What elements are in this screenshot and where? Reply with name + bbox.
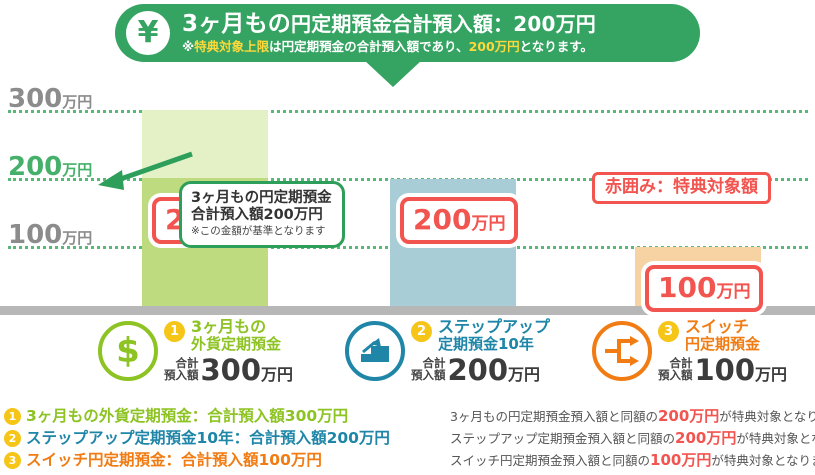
- banner-sub-middle: は円定期預金の合計預入額であり、: [269, 39, 468, 54]
- y-axis-label-100: 100万円: [8, 222, 92, 248]
- product-3-name: スイッチ 円定期預金: [685, 318, 760, 353]
- callout-bubble: 3ヶ月もの円定期預金 合計預入額200万円 ※この金額が基準となります: [179, 181, 345, 248]
- footnote-3-right-amount: 100万円: [650, 451, 711, 469]
- product-2-name-line1: ステップアップ: [438, 318, 550, 336]
- y-axis-100-number: 100: [8, 220, 62, 250]
- product-2-info: 2 ステップアップ 定期預金10年 合計 預入額 200万円: [411, 318, 550, 385]
- product-1-name-line1: 3ヶ月もの: [191, 318, 281, 336]
- footnote-1-right-pre: 3ヶ月もの円定期預金預入額と同額の: [450, 409, 658, 424]
- gridline-300: [8, 110, 808, 113]
- product-1-info: 1 3ヶ月もの 外貨定期預金 合計 預入額 300万円: [164, 318, 293, 385]
- y-axis-label-200: 200万円: [8, 154, 92, 180]
- callout-line-2: 合計預入額200万円: [191, 207, 334, 224]
- footnote-3-left-text: スイッチ円定期預金：合計預入額100万円: [26, 453, 438, 469]
- product-2-name-line2: 定期預金10年: [438, 336, 550, 353]
- product-2-amount-number: 200: [448, 353, 509, 387]
- product-3-amount-unit: 万円: [755, 365, 787, 384]
- badge-2-unit: 万円: [471, 214, 505, 234]
- footnote-list: 1 3ヶ月もの外貨定期預金：合計預入額300万円 3ヶ月もの円定期預金預入額と同…: [0, 406, 815, 472]
- product-item-1[interactable]: $ 1 3ヶ月もの 外貨定期預金 合計 預入額 300万円: [98, 318, 293, 385]
- product-3-amount-label-2: 預入額: [658, 368, 693, 382]
- bar-product-1-upper-segment: [142, 110, 268, 178]
- product-3-amount-number: 100: [695, 353, 756, 387]
- footnote-3-number-badge: 3: [4, 452, 21, 469]
- banner-title-rest: 円定期預金合計預入額：200万円: [291, 12, 596, 36]
- product-1-name-line2: 外貨定期預金: [191, 336, 281, 353]
- callout-line-1: 3ヶ月もの円定期預金: [191, 190, 334, 207]
- footnote-1-right-amount: 200万円: [658, 407, 719, 425]
- y-axis-300-unit: 万円: [62, 93, 92, 111]
- footnote-row-3: 3 スイッチ円定期預金：合計預入額100万円 スイッチ円定期預金預入額と同額の1…: [4, 450, 811, 471]
- product-2-amount: 合計 預入額 200万円: [411, 356, 550, 385]
- banner-title: 3ヶ月もの円定期預金合計預入額：200万円: [182, 12, 596, 37]
- bar-chart: 300万円 200万円 100万円 200万円 200万円 100万円 3ヶ月も…: [0, 84, 815, 316]
- banner-sub-highlight-1: 特典対象上限: [194, 39, 269, 54]
- step-up-chart-icon: [345, 321, 405, 381]
- product-1-amount-number: 300: [201, 353, 262, 387]
- product-3-name-line1: スイッチ: [685, 318, 760, 336]
- eligible-amount-badge-3: 100万円: [645, 265, 763, 312]
- y-axis-300-number: 300: [8, 84, 62, 114]
- product-3-amount-value: 100万円: [695, 356, 788, 385]
- switch-glyph: [603, 335, 641, 367]
- dollar-circle-icon: $: [98, 321, 158, 381]
- footnote-2-right-post: が特典対象となります。: [736, 431, 815, 446]
- product-row: $ 1 3ヶ月もの 外貨定期預金 合計 預入額 300万円: [0, 318, 815, 400]
- footnote-2-right-amount: 200万円: [675, 429, 736, 447]
- product-3-amount-label: 合計 預入額: [658, 357, 693, 382]
- dollar-glyph: $: [111, 332, 145, 370]
- product-2-amount-value: 200万円: [448, 356, 541, 385]
- product-1-head: 1 3ヶ月もの 外貨定期預金: [164, 318, 293, 353]
- product-1-amount-value: 300万円: [201, 356, 294, 385]
- product-3-amount: 合計 預入額 100万円: [658, 356, 787, 385]
- footnote-2-right-text: ステップアップ定期預金預入額と同額の200万円が特典対象となります。: [450, 431, 815, 446]
- infographic-root: ¥ 3ヶ月もの円定期預金合計預入額：200万円 ※特典対象上限は円定期預金の合計…: [0, 0, 815, 475]
- product-2-amount-unit: 万円: [508, 365, 540, 384]
- footnote-1-number-badge: 1: [4, 408, 21, 425]
- switch-arrows-icon: [592, 321, 652, 381]
- y-axis-200-unit: 万円: [62, 161, 92, 179]
- legend-red-box: 赤囲み：特典対象額: [592, 172, 771, 204]
- product-1-number-badge: 1: [164, 321, 185, 342]
- product-2-amount-label-2: 預入額: [411, 368, 446, 382]
- y-axis-200-number: 200: [8, 152, 62, 182]
- footnote-3-right-pre: スイッチ円定期預金預入額と同額の: [450, 453, 650, 468]
- y-axis-label-300: 300万円: [8, 86, 92, 112]
- product-1-amount-label: 合計 預入額: [164, 357, 199, 382]
- footnote-2-number-badge: 2: [4, 430, 21, 447]
- footnote-1-left-text: 3ヶ月もの外貨定期預金：合計預入額300万円: [26, 409, 438, 425]
- banner-title-main: 3ヶ月もの: [182, 11, 291, 37]
- banner-sub-mark: ※: [182, 39, 194, 54]
- svg-text:$: $: [116, 332, 140, 370]
- product-3-head: 3 スイッチ 円定期預金: [658, 318, 787, 353]
- product-1-amount: 合計 預入額 300万円: [164, 356, 293, 385]
- product-2-name: ステップアップ 定期預金10年: [438, 318, 550, 353]
- footnote-1-right-post: が特典対象となります。: [719, 409, 815, 424]
- product-item-3[interactable]: 3 スイッチ 円定期預金 合計 預入額 100万円: [592, 318, 787, 385]
- product-item-2[interactable]: 2 ステップアップ 定期預金10年 合計 預入額 200万円: [345, 318, 550, 385]
- product-3-info: 3 スイッチ 円定期預金 合計 預入額 100万円: [658, 318, 787, 385]
- footnote-3-right-text: スイッチ円定期預金預入額と同額の100万円が特典対象となります。: [450, 453, 815, 468]
- banner-sub-end: となります。: [520, 39, 593, 54]
- badge-2-number: 200: [413, 203, 471, 236]
- banner-sub-highlight-2: 200万円: [469, 39, 520, 54]
- callout-line-3: ※この金額が基準となります: [191, 225, 334, 238]
- y-axis-100-unit: 万円: [62, 229, 92, 247]
- product-2-head: 2 ステップアップ 定期預金10年: [411, 318, 550, 353]
- product-1-amount-unit: 万円: [261, 365, 293, 384]
- badge-3-unit: 万円: [716, 282, 750, 302]
- footnote-row-1: 1 3ヶ月もの外貨定期預金：合計預入額300万円 3ヶ月もの円定期預金預入額と同…: [4, 406, 811, 427]
- footnote-3-right-post: が特典対象となります。: [711, 453, 815, 468]
- down-arrow-icon: [364, 60, 422, 87]
- banner-text-group: 3ヶ月もの円定期預金合計預入額：200万円 ※特典対象上限は円定期預金の合計預入…: [182, 12, 596, 54]
- product-2-number-badge: 2: [411, 321, 432, 342]
- product-1-amount-label-2: 預入額: [164, 368, 199, 382]
- step-up-glyph: [357, 336, 393, 366]
- eligible-amount-badge-2: 200万円: [400, 197, 518, 244]
- product-2-amount-label: 合計 預入額: [411, 357, 446, 382]
- product-1-name: 3ヶ月もの 外貨定期預金: [191, 318, 281, 353]
- footnote-2-right-pre: ステップアップ定期預金預入額と同額の: [450, 431, 675, 446]
- badge-3-number: 100: [658, 271, 716, 304]
- product-3-number-badge: 3: [658, 321, 679, 342]
- footnote-row-2: 2 ステップアップ定期預金10年：合計預入額200万円 ステップアップ定期預金預…: [4, 428, 811, 449]
- yen-coin-icon: ¥: [126, 11, 170, 55]
- footnote-2-left-text: ステップアップ定期預金10年：合計預入額200万円: [26, 431, 438, 447]
- product-3-name-line2: 円定期預金: [685, 336, 760, 353]
- footnote-1-right-text: 3ヶ月もの円定期預金預入額と同額の200万円が特典対象となります。: [450, 409, 815, 424]
